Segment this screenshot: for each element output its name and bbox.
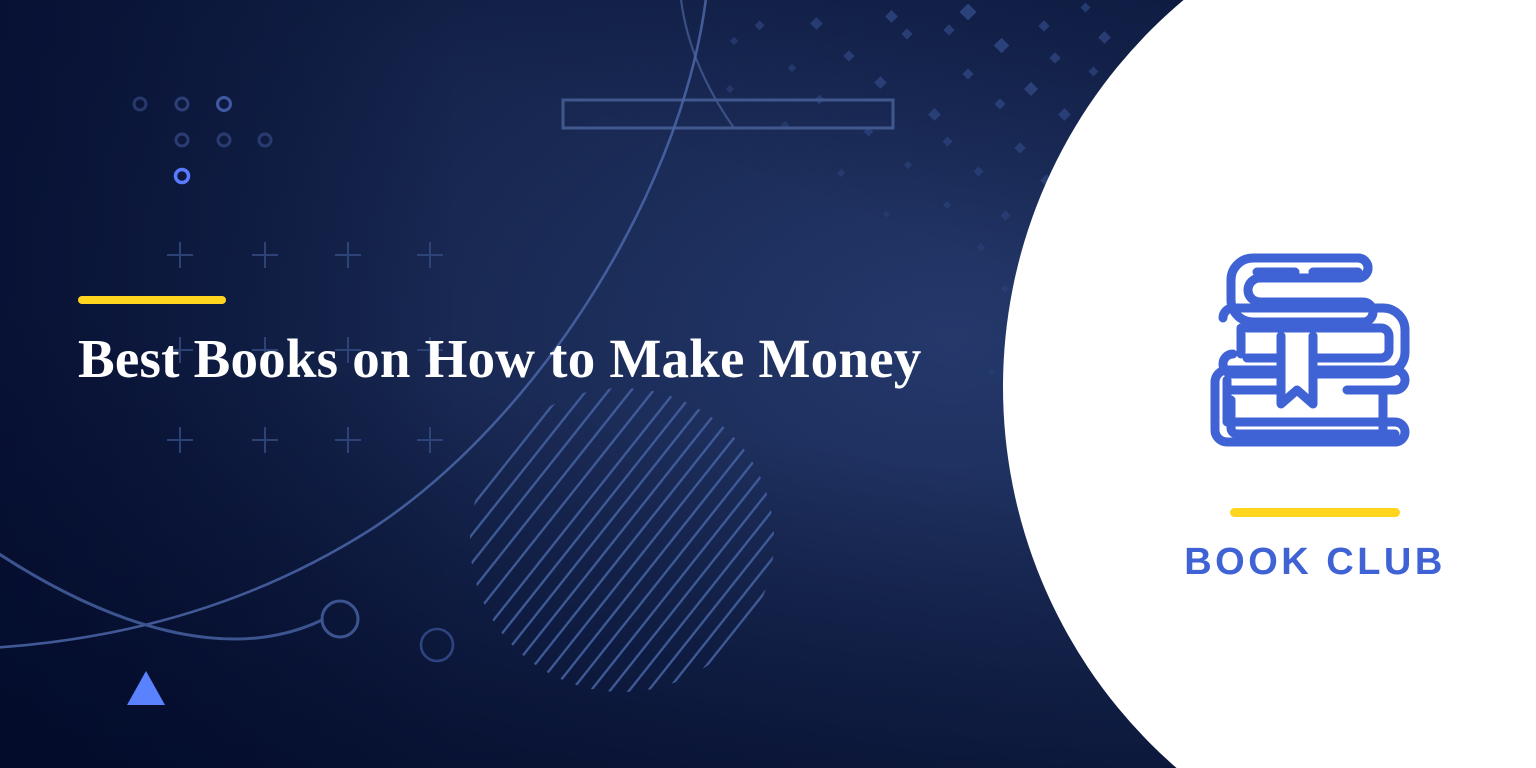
logo-wordmark: BOOK CLUB [1160, 543, 1470, 581]
circle-dot-cluster [134, 98, 271, 183]
yellow-accent-rule [78, 296, 226, 304]
ring-large [322, 601, 358, 637]
logo-yellow-rule [1230, 508, 1400, 517]
stack-of-books-icon [1185, 232, 1445, 482]
arc-top-descending [680, 0, 734, 128]
arc-bottom-sweep [0, 548, 322, 639]
outlined-bar [563, 100, 893, 128]
hero-banner: Best Books on How to Make Money [0, 0, 1536, 768]
blue-triangle [127, 671, 165, 705]
logo-lockup[interactable]: BOOK CLUB [1160, 232, 1470, 581]
page-title: Best Books on How to Make Money [78, 330, 978, 388]
ring-small [421, 629, 453, 661]
headline-block: Best Books on How to Make Money [78, 296, 978, 388]
